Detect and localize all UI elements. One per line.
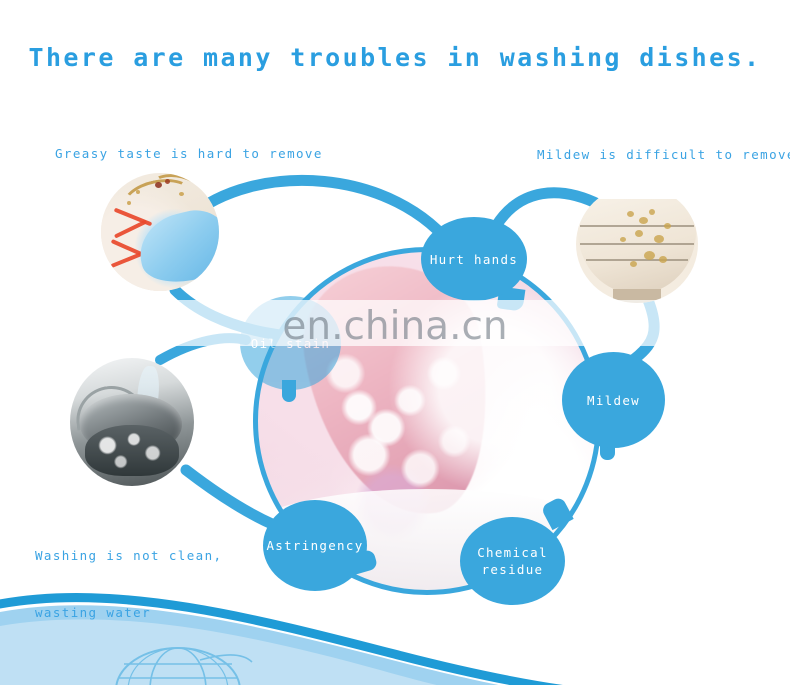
connector-arc-greasy-to-hurt [188, 180, 455, 250]
caption-greasy-taste: Greasy taste is hard to remove [55, 144, 323, 163]
caption-washing-line-1: Washing is not clean, [35, 546, 222, 565]
infographic-canvas: There are many troubles in washing dishe… [0, 0, 790, 685]
connector-arc-bowl-to-mildew [630, 300, 654, 362]
bubble-hurt-hands[interactable]: Hurt hands [421, 217, 527, 301]
bubble-astringency[interactable]: Astringency [263, 500, 367, 591]
bubble-mildew[interactable]: Mildew [562, 352, 665, 448]
caption-washing-line-2: wasting water [35, 603, 222, 622]
greasy-plate-photo [101, 173, 219, 291]
caption-mildew-difficult: Mildew is difficult to remove [537, 145, 790, 164]
bubble-chemical-residue[interactable]: Chemical residue [460, 517, 565, 605]
bubble-hurt-hands-label: Hurt hands [430, 251, 518, 268]
bubble-oil-stain-label: Oil stain [251, 335, 330, 352]
moldy-bowl-photo [576, 185, 698, 303]
bubble-astringency-label: Astringency [266, 537, 363, 554]
page-title: There are many troubles in washing dishe… [0, 43, 790, 72]
bubble-mildew-label: Mildew [587, 392, 640, 409]
bubble-chemical-residue-line-1: Chemical [477, 544, 548, 561]
caption-washing-not-clean: Washing is not clean, wasting water [35, 508, 222, 660]
bubble-chemical-residue-line-2: residue [477, 561, 548, 578]
bubble-oil-stain[interactable]: Oil stain [240, 296, 341, 390]
dirty-pot-running-water-photo [70, 358, 194, 486]
connector-arc-pot-to-oil [160, 338, 246, 360]
